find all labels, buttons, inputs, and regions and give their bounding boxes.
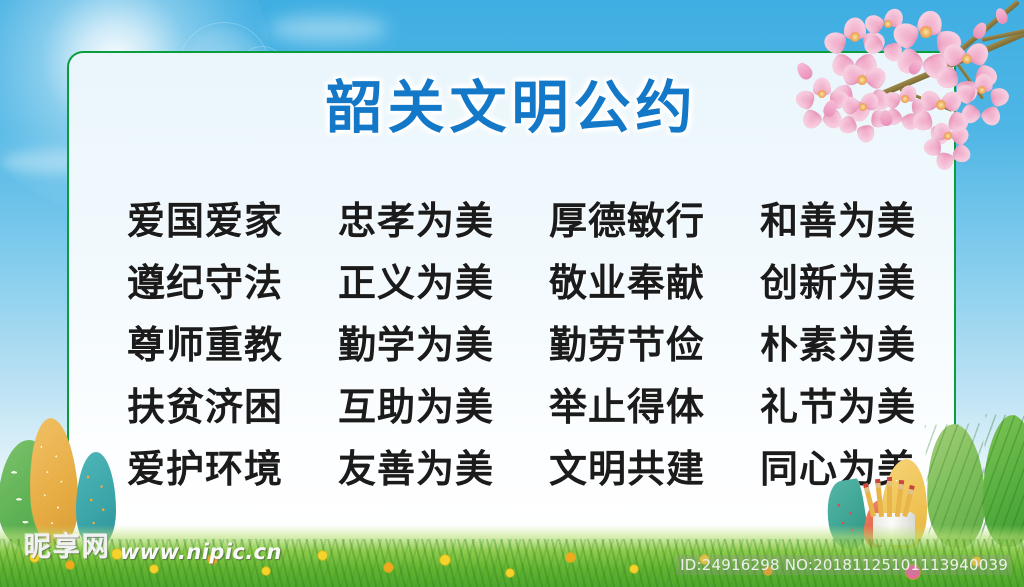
flower-icon bbox=[150, 565, 158, 573]
pledge-cell: 创新为美 bbox=[760, 252, 916, 307]
cloud-icon bbox=[268, 16, 388, 42]
pledge-cell: 勤学为美 bbox=[338, 314, 494, 369]
pledge-cell: 互助为美 bbox=[338, 376, 494, 431]
flower-icon bbox=[566, 553, 575, 562]
flower-icon bbox=[972, 557, 981, 566]
pledge-cell: 爱国爱家 bbox=[127, 190, 283, 245]
poster-canvas: 韶关文明公约 爱国爱家 忠孝为美 厚德敏行 和善为美 遵纪守法 正义为美 敬业奉… bbox=[0, 0, 1024, 587]
flower-icon bbox=[30, 553, 39, 562]
pledge-cell: 礼节为美 bbox=[760, 376, 916, 431]
flower-icon bbox=[262, 567, 270, 575]
flower-icon bbox=[630, 565, 638, 573]
pledge-cell: 尊师重教 bbox=[127, 314, 283, 369]
pledge-cell: 厚德敏行 bbox=[549, 190, 705, 245]
pledge-cell: 和善为美 bbox=[760, 190, 916, 245]
pledge-cell: 友善为美 bbox=[338, 438, 494, 493]
pledge-cell: 忠孝为美 bbox=[338, 190, 494, 245]
pledge-table: 爱国爱家 忠孝为美 厚德敏行 和善为美 遵纪守法 正义为美 敬业奉献 创新为美 … bbox=[127, 186, 916, 496]
flower-icon bbox=[700, 555, 709, 564]
flower-icon bbox=[906, 565, 920, 579]
flower-icon bbox=[764, 567, 772, 575]
flower-icon bbox=[318, 551, 327, 560]
flower-icon bbox=[112, 549, 122, 559]
flower-icon bbox=[506, 569, 514, 577]
pledge-cell: 敬业奉献 bbox=[549, 252, 705, 307]
flower-icon bbox=[66, 561, 74, 569]
pledge-cell: 勤劳节俭 bbox=[549, 314, 705, 369]
table-row: 尊师重教 勤学为美 勤劳节俭 朴素为美 bbox=[127, 310, 916, 372]
pledge-cell: 爱护环境 bbox=[127, 438, 283, 493]
peach-blossom-branch-icon bbox=[784, 0, 1024, 150]
pledge-cell: 文明共建 bbox=[549, 438, 705, 493]
pledge-cell: 遵纪守法 bbox=[127, 252, 283, 307]
table-row: 扶贫济困 互助为美 举止得体 礼节为美 bbox=[127, 372, 916, 434]
pledge-cell: 举止得体 bbox=[549, 376, 705, 431]
table-row: 遵纪守法 正义为美 敬业奉献 创新为美 bbox=[127, 248, 916, 310]
table-row: 爱国爱家 忠孝为美 厚德敏行 和善为美 bbox=[127, 186, 916, 248]
table-row: 爱护环境 友善为美 文明共建 同心为美 bbox=[127, 434, 916, 496]
grass-field bbox=[0, 525, 1024, 587]
pledge-cell: 正义为美 bbox=[338, 252, 494, 307]
pledge-cell: 朴素为美 bbox=[760, 314, 916, 369]
flower-icon bbox=[440, 555, 450, 565]
flower-icon bbox=[384, 563, 393, 572]
pledge-cell: 扶贫济困 bbox=[127, 376, 283, 431]
flower-icon bbox=[208, 555, 217, 564]
